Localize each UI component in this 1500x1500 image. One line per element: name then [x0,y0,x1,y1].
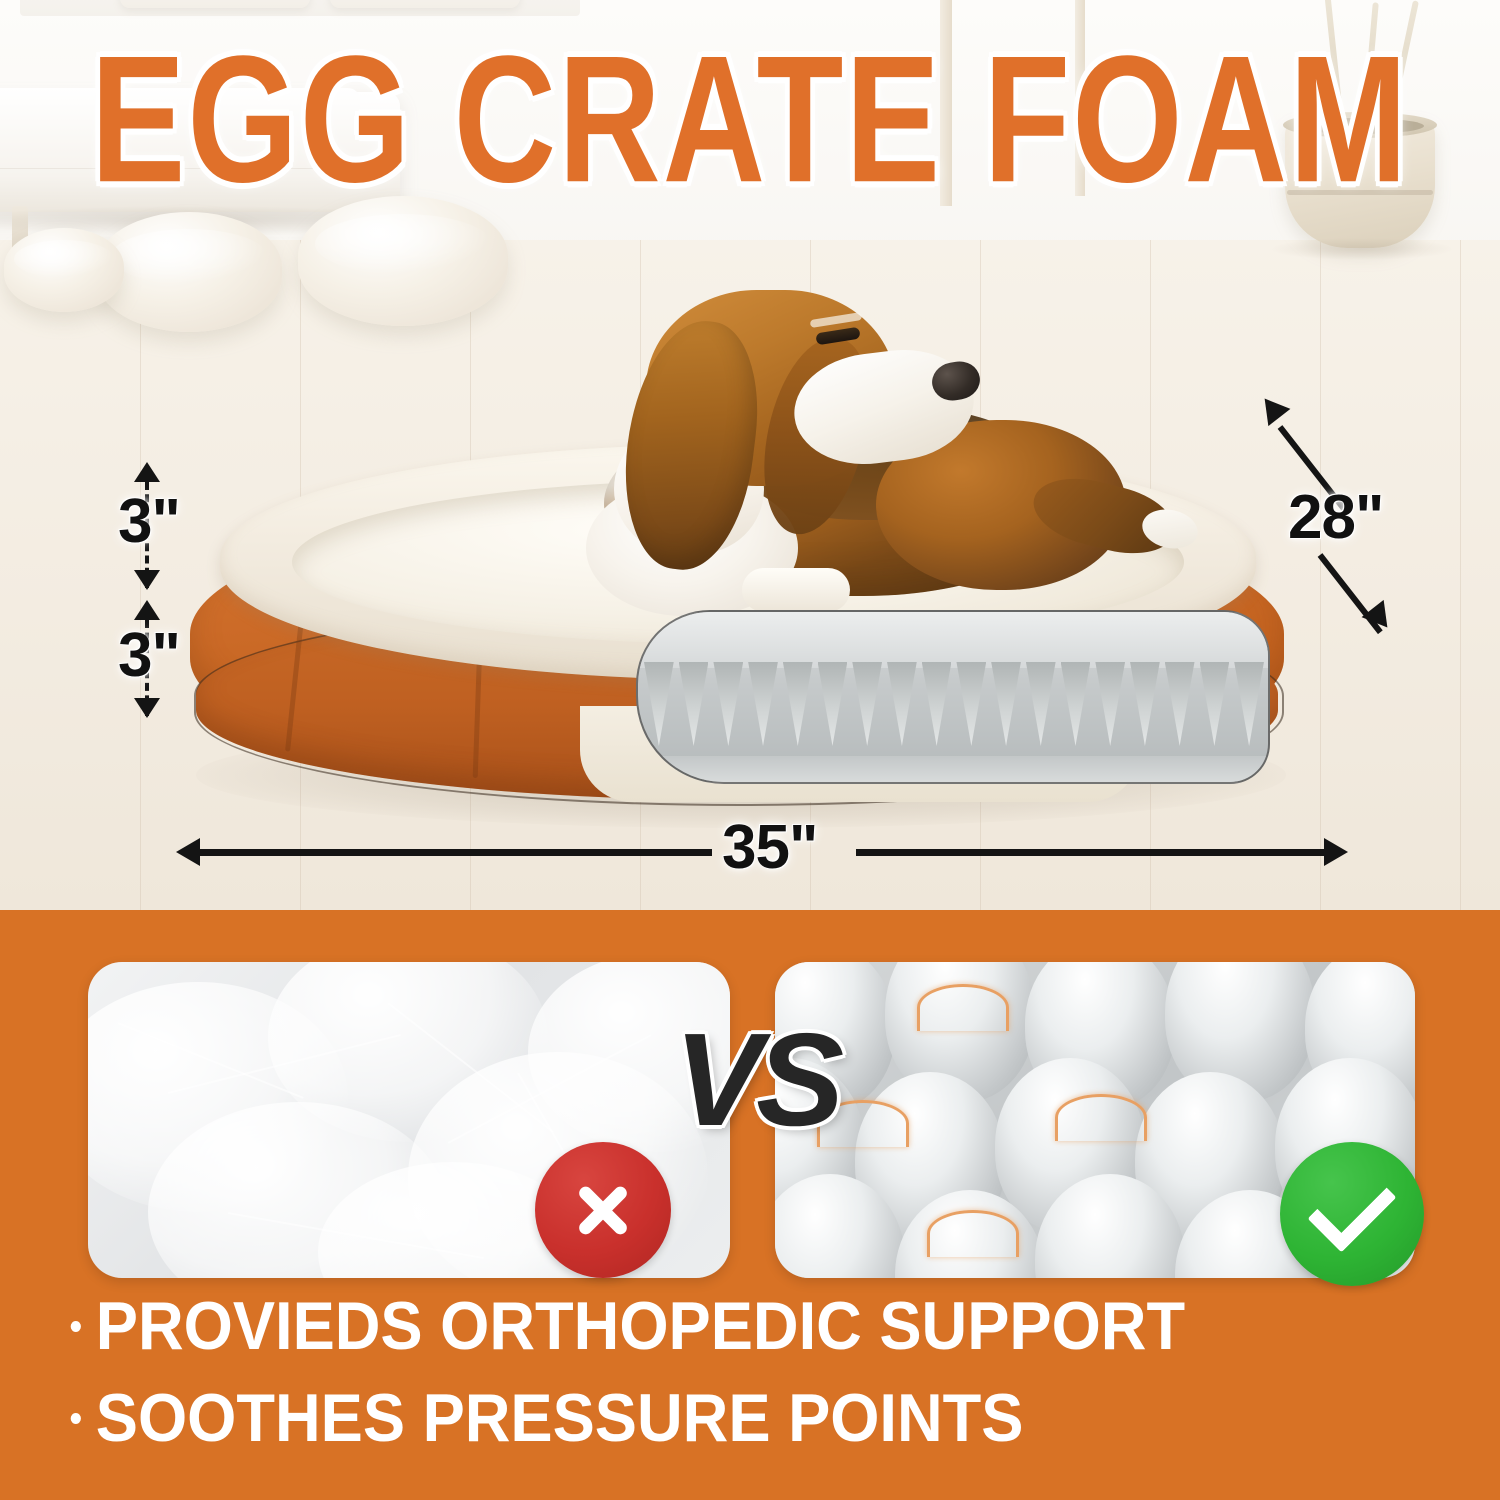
dog-bed [176,392,1298,832]
page-title: EGG CRATE FOAM [30,30,1470,211]
benefit-text: PROVIEDS ORTHOPEDIC SUPPORT [96,1288,1185,1366]
product-scene: EGG CRATE FOAM [0,0,1500,912]
check-mark-icon [1280,1142,1424,1286]
foam-highlight-arc [917,984,1009,1031]
benefit-item: PROVIEDS ORTHOPEDIC SUPPORT [0,1288,1395,1366]
benefit-text: SOOTHES PRESSURE POINTS [96,1380,1024,1458]
bullet-dot-icon [71,1413,81,1424]
benefit-item: SOOTHES PRESSURE POINTS [0,1380,1395,1458]
pouf-small [4,228,124,312]
dimension-label-35in: 35" [722,812,817,883]
dimension-label-3in-bottom: 3" [118,620,180,691]
dimension-label-28in: 28" [1288,482,1383,553]
x-mark-icon [535,1142,671,1278]
infographic-canvas: EGG CRATE FOAM [0,0,1500,1500]
egg-crate-foam-cutaway [636,610,1270,784]
dimension-label-3in-top: 3" [118,486,180,557]
benefits-list: PROVIEDS ORTHOPEDIC SUPPORT SOOTHES PRES… [0,1288,1500,1457]
foam-highlight-arc [1055,1094,1147,1141]
vs-label: VS [674,1014,838,1146]
bullet-dot-icon [71,1321,81,1332]
foam-highlight-arc [927,1210,1019,1257]
